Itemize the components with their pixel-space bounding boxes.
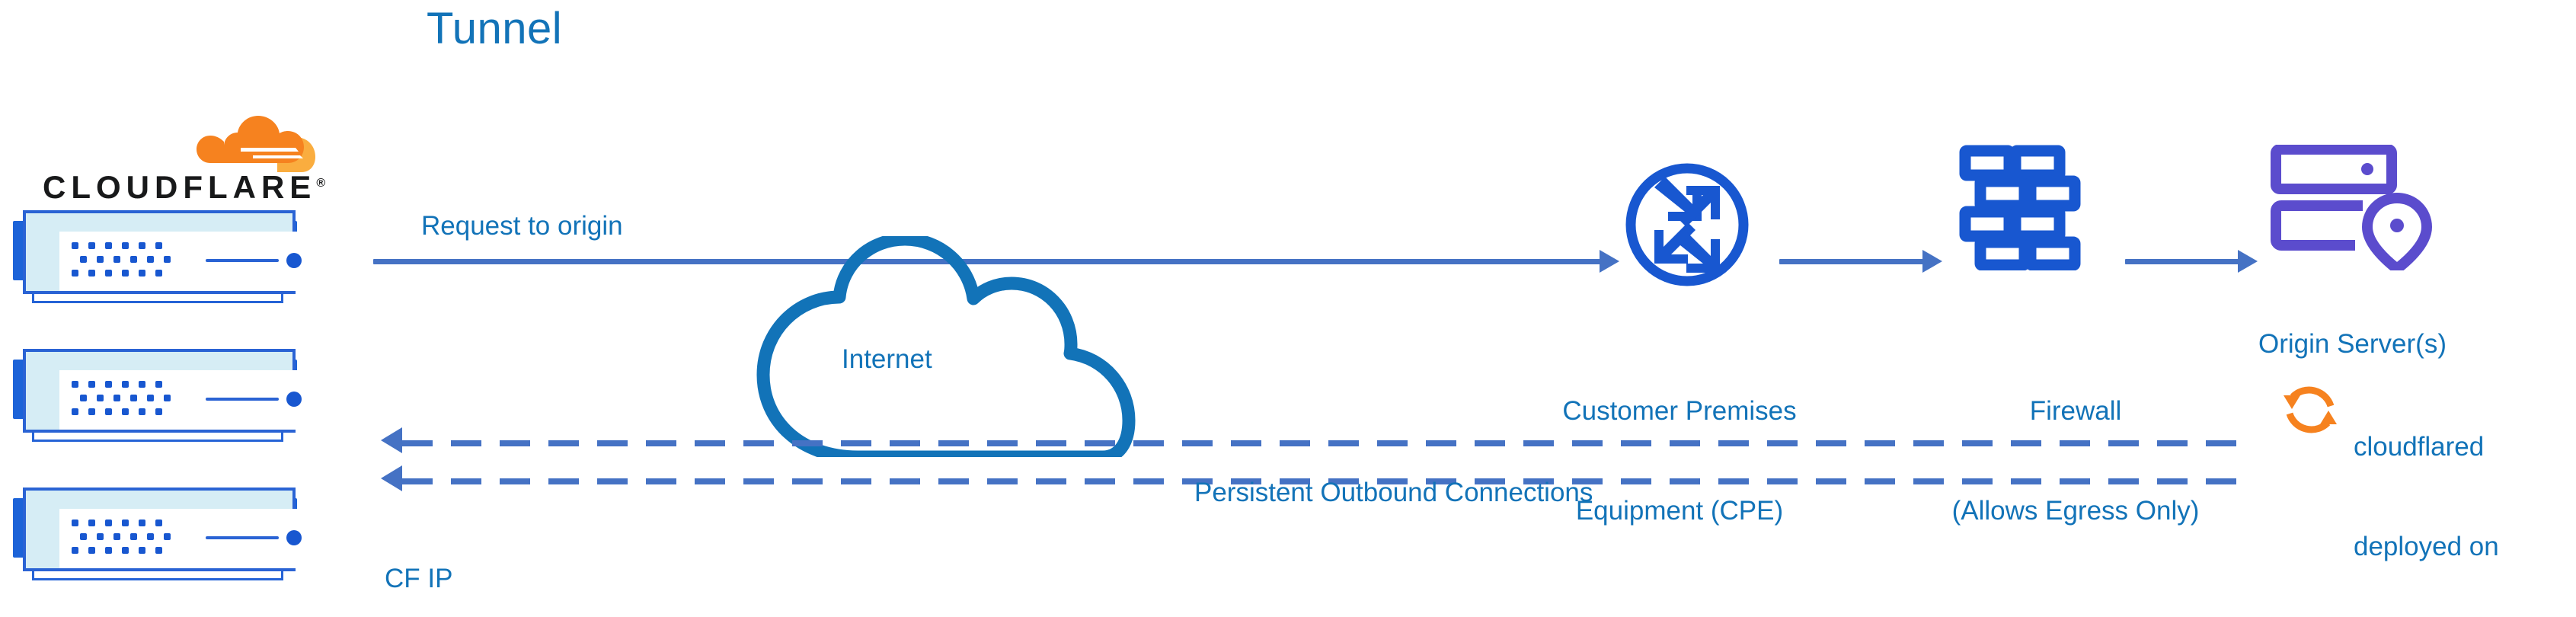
cloudflared-line1: cloudflared — [2354, 430, 2567, 464]
server-location-pin-icon — [2270, 145, 2445, 270]
server-vent-dots — [72, 381, 167, 419]
cf-ip-anycast-label: CF IP (Anycast) — [385, 495, 497, 617]
server-front-panel — [59, 232, 311, 291]
persistent-connection-arrow-head-1 — [381, 427, 402, 453]
persistent-connection-arrow-head-2 — [381, 465, 402, 491]
cloud-outline-icon — [708, 236, 1181, 457]
server-vent-dots — [72, 519, 167, 558]
server-power-led — [286, 530, 302, 545]
persistent-outbound-connections-label: Persistent Outbound Connections — [1194, 476, 1593, 510]
server-chassis — [23, 488, 296, 571]
server-status-line — [206, 259, 279, 262]
cloudflare-wordmark: CLOUDFLARE® — [43, 169, 325, 206]
firewall-label-line2: (Allows Egress Only) — [1912, 494, 2239, 528]
persistent-connection-line-1 — [402, 440, 2244, 446]
cloudflared-label: cloudflared deployed on servers — [2354, 363, 2567, 617]
cpe-label: Customer Premises Equipment (CPE) — [1504, 328, 1855, 594]
registered-trademark-icon: ® — [316, 177, 325, 190]
tunnel-diagram-canvas: Tunnel CLOUDFLARE® — [0, 0, 2576, 617]
brick-wall-icon — [1959, 145, 2081, 270]
server-power-led — [286, 253, 302, 268]
page-title: Tunnel — [427, 2, 562, 57]
server-front-panel — [59, 370, 311, 430]
server-power-led — [286, 392, 302, 407]
edge-server-unit — [0, 481, 320, 584]
cloudflared-line2: deployed on — [2354, 530, 2567, 564]
cloudflare-cloud-icon — [180, 107, 317, 175]
cpe-to-firewall-arrow-line — [1779, 259, 1924, 264]
edge-server-unit — [0, 343, 320, 446]
router-converging-arrows-icon — [1622, 160, 1752, 289]
firewall-label-line1: Firewall — [1912, 395, 2239, 428]
origin-server-label: Origin Server(s) — [2258, 328, 2563, 361]
firewall-to-origin-arrow-head — [2238, 250, 2258, 273]
request-arrow-head — [1600, 250, 1619, 273]
cpe-label-line1: Customer Premises — [1504, 395, 1855, 428]
internet-label: Internet — [842, 343, 932, 376]
server-front-panel — [59, 509, 311, 568]
cpe-to-firewall-arrow-head — [1922, 250, 1942, 273]
firewall-to-origin-arrow-line — [2125, 259, 2239, 264]
server-status-line — [206, 536, 279, 539]
server-status-line — [206, 398, 279, 401]
cf-ip-line1: CF IP — [385, 562, 497, 596]
cloudflare-logo: CLOUDFLARE® — [21, 107, 326, 206]
sync-circular-arrows-icon — [2277, 377, 2343, 443]
firewall-label: Firewall (Allows Egress Only) — [1912, 328, 2239, 594]
edge-server-unit — [0, 204, 320, 307]
server-chassis — [23, 349, 296, 433]
request-to-origin-label: Request to origin — [421, 209, 623, 243]
cloudflare-wordmark-text: CLOUDFLARE — [43, 169, 316, 205]
server-chassis — [23, 210, 296, 294]
server-vent-dots — [72, 242, 167, 280]
